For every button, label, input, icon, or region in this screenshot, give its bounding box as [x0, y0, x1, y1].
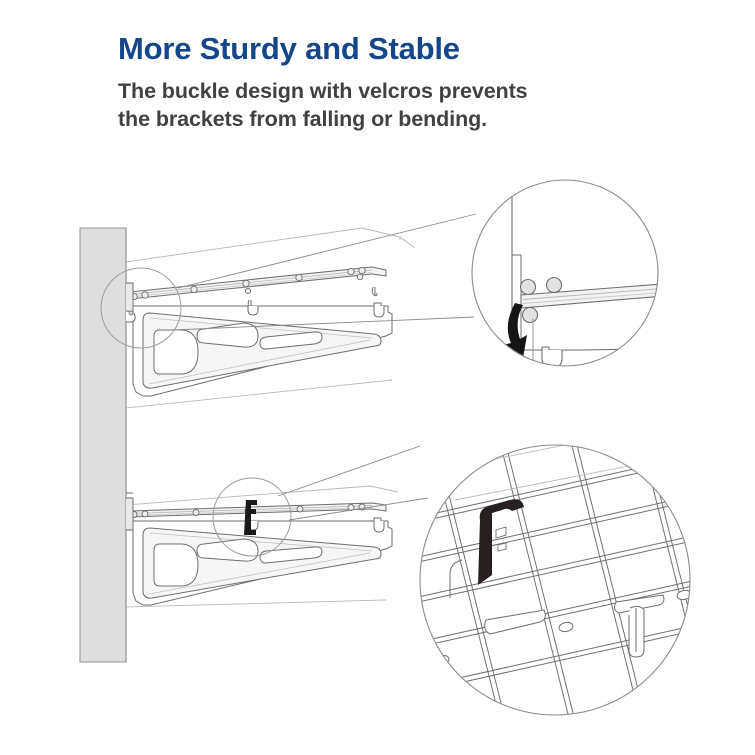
velcro-buckle-magnified	[478, 499, 524, 585]
lower-bracket-plate	[133, 518, 392, 605]
text-block: More Sturdy and Stable The buckle design…	[118, 32, 678, 134]
upper-rail-rivets	[131, 267, 365, 299]
rotation-arrow	[503, 303, 527, 358]
wall-column	[80, 228, 126, 662]
lower-detail-circle	[405, 420, 713, 720]
velcro-buckle	[244, 500, 257, 535]
page-subtitle-line-1: The buckle design with velcros prevents	[118, 77, 678, 105]
lower-bracket-assembly	[126, 446, 428, 607]
upper-wall-plate	[126, 283, 135, 322]
upper-hook-marks	[248, 287, 377, 309]
page-title: More Sturdy and Stable	[118, 32, 678, 66]
page-subtitle-line-2: the brackets from falling or bending.	[118, 105, 678, 133]
lower-wall-plate	[126, 493, 133, 530]
upper-detail-circle	[470, 178, 700, 414]
upper-callout-marker	[101, 268, 181, 348]
infographic-page: More Sturdy and Stable The buckle design…	[0, 0, 755, 755]
lower-bracket-cutouts	[154, 539, 322, 586]
lower-callout-marker	[213, 478, 291, 556]
lower-bracket-brace	[143, 528, 381, 598]
lower-leader-lines	[278, 446, 428, 520]
upper-rail	[130, 267, 386, 299]
upper-leader-lines	[173, 214, 476, 330]
lower-rail-rivets	[131, 504, 365, 518]
lower-rail	[130, 503, 386, 517]
upper-bracket-plate	[133, 303, 392, 396]
upper-bracket-assembly	[101, 214, 476, 408]
upper-bracket-brace	[143, 313, 381, 388]
upper-bracket-cutouts	[154, 323, 322, 374]
